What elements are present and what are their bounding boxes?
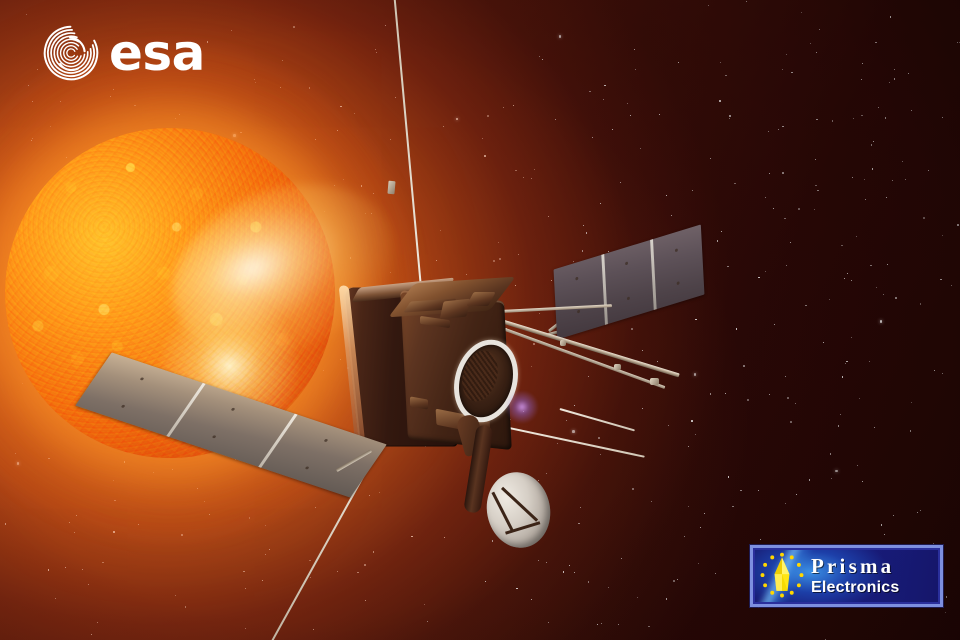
prisma-star-dot bbox=[763, 583, 767, 587]
prisma-star-dot bbox=[790, 591, 794, 595]
solar-orbiter bbox=[0, 0, 960, 640]
lens-flare-sparkle bbox=[505, 390, 539, 424]
esa-swirl-globe-icon bbox=[42, 24, 100, 82]
rpw-antenna-lower-right-2 bbox=[559, 408, 635, 431]
prisma-star-dot bbox=[763, 563, 767, 567]
bus-equipment-3 bbox=[440, 299, 471, 320]
prisma-star-dot bbox=[780, 594, 784, 598]
rpw-antenna-lower-left bbox=[271, 469, 368, 640]
prisma-star-dot bbox=[770, 591, 774, 595]
scene-root: esa Prisma Electronics bbox=[0, 0, 960, 640]
boom-sensor-2-icon bbox=[614, 364, 621, 370]
prisma-star-dot bbox=[790, 555, 794, 559]
solar-array-left bbox=[75, 352, 387, 497]
boom-sensor-3-icon bbox=[560, 340, 566, 346]
prisma-subtitle: Electronics bbox=[811, 580, 899, 596]
antenna-fitting-icon bbox=[387, 181, 395, 195]
prisma-star-dot bbox=[797, 583, 801, 587]
prisma-star-dot bbox=[761, 573, 765, 577]
rpw-antenna-lower-right bbox=[500, 425, 645, 458]
solar-array-right bbox=[554, 224, 705, 339]
prisma-star-dot bbox=[800, 573, 804, 577]
esa-wordmark: esa bbox=[109, 28, 205, 78]
high-gain-antenna-feed bbox=[495, 484, 541, 534]
instrument-boom-2 bbox=[499, 326, 665, 389]
prisma-title: Prisma bbox=[811, 556, 899, 577]
prisma-star-dot bbox=[797, 563, 801, 567]
prisma-electronics-logo: Prisma Electronics bbox=[750, 545, 943, 607]
yellow-prism-icon bbox=[755, 550, 809, 602]
prisma-star-dot bbox=[770, 555, 774, 559]
rpw-antenna-top bbox=[394, 0, 423, 288]
boom-sensor-icon bbox=[650, 378, 659, 385]
prisma-star-dot bbox=[780, 553, 784, 557]
esa-logo: esa bbox=[42, 24, 205, 82]
